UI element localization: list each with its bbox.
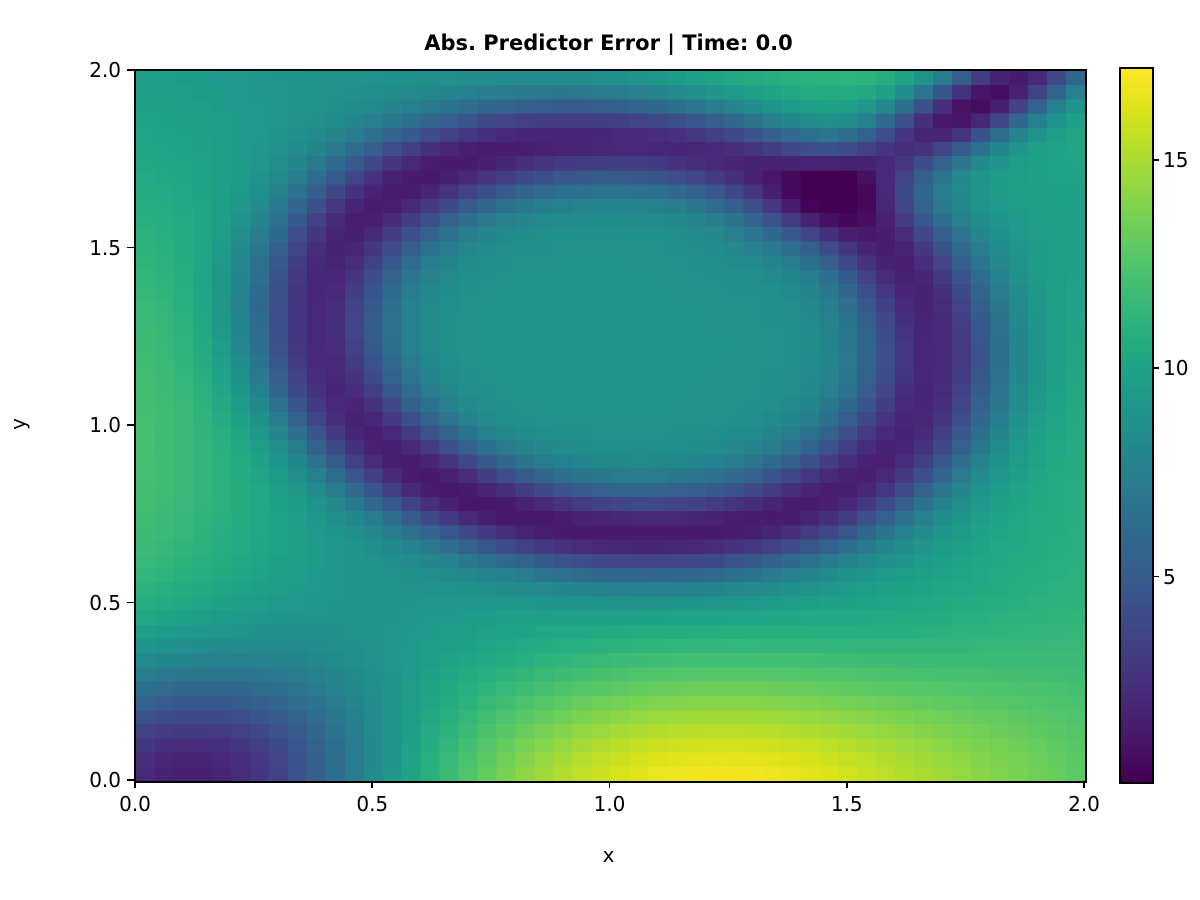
x-tick-mark — [846, 781, 848, 788]
colorbar-gradient — [1121, 69, 1152, 782]
colorbar-tick-label: 5 — [1163, 565, 1176, 589]
heatmap-axes — [134, 69, 1087, 783]
colorbar-axes — [1119, 67, 1154, 784]
y-axis-label: y — [6, 418, 30, 430]
colorbar-tick-label: 15 — [1163, 148, 1188, 172]
x-tick-label: 1.0 — [594, 792, 626, 816]
x-tick-label: 1.5 — [831, 792, 863, 816]
x-tick-mark — [134, 781, 136, 788]
colorbar-tick-mark — [1152, 159, 1159, 161]
figure-canvas: Abs. Predictor Error | Time: 0.0 0.00.51… — [0, 0, 1200, 900]
colorbar-tick-label: 10 — [1163, 356, 1188, 380]
heatmap-image — [136, 71, 1085, 781]
x-tick-label: 0.5 — [356, 792, 388, 816]
y-tick-label: 1.5 — [89, 236, 121, 260]
x-tick-label: 0.0 — [119, 792, 151, 816]
x-tick-mark — [1083, 781, 1085, 788]
colorbar-tick-mark — [1152, 576, 1159, 578]
x-axis-label: x — [134, 843, 1083, 867]
y-tick-mark — [127, 69, 134, 71]
y-tick-mark — [127, 247, 134, 249]
x-tick-mark — [609, 781, 611, 788]
y-tick-mark — [127, 424, 134, 426]
y-tick-label: 1.0 — [89, 413, 121, 437]
page-title: Abs. Predictor Error | Time: 0.0 — [134, 30, 1083, 56]
colorbar-tick-mark — [1152, 367, 1159, 369]
y-tick-mark — [127, 779, 134, 781]
y-tick-mark — [127, 602, 134, 604]
y-tick-label: 0.0 — [89, 768, 121, 792]
y-tick-label: 0.5 — [89, 591, 121, 615]
y-tick-label: 2.0 — [89, 58, 121, 82]
x-tick-mark — [371, 781, 373, 788]
x-tick-label: 2.0 — [1068, 792, 1100, 816]
